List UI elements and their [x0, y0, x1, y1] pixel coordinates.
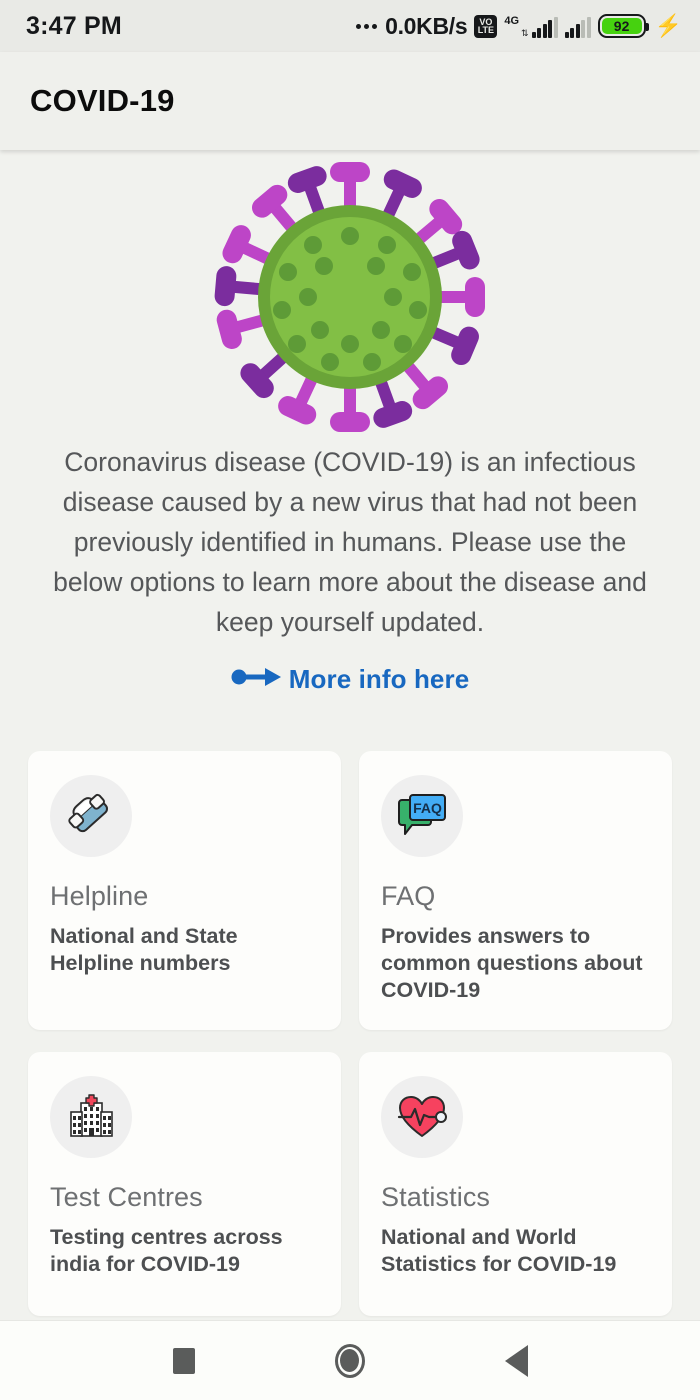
description-text: Coronavirus disease (COVID-19) is an inf… — [40, 442, 660, 642]
telephone-receiver-icon — [50, 775, 132, 857]
card-helpline[interactable]: Helpline National and State Helpline num… — [28, 751, 341, 1030]
battery-percent-label: 92 — [602, 18, 642, 34]
faq-speech-bubble-icon: FAQ — [381, 775, 463, 857]
charging-bolt-icon: ⚡ — [655, 15, 682, 37]
home-circle-icon — [335, 1344, 365, 1378]
more-info-label: More info here — [289, 664, 470, 695]
sim1-signal-icon: 4G ⇅ — [504, 15, 557, 38]
home-button[interactable] — [335, 1344, 365, 1378]
coronavirus-illustration — [200, 162, 500, 432]
page-title: COVID-19 — [30, 83, 175, 119]
status-bar: 3:47 PM 0.0KB/s VO LTE 4G ⇅ — [0, 0, 700, 52]
main-content: Coronavirus disease (COVID-19) is an inf… — [0, 150, 700, 1320]
card-title: Statistics — [381, 1182, 650, 1213]
sim2-bars — [565, 18, 591, 38]
card-test-centres[interactable]: Test Centres Testing centres across indi… — [28, 1052, 341, 1316]
network-type-label: 4G — [504, 15, 519, 27]
arrow-right-icon — [231, 666, 283, 693]
card-subtitle: Testing centres across india for COVID-1… — [50, 1224, 319, 1278]
back-triangle-icon — [505, 1345, 528, 1377]
network-speed-label: 0.0KB/s — [385, 13, 467, 40]
more-info-link[interactable]: More info here — [231, 664, 470, 695]
card-title: Test Centres — [50, 1182, 319, 1213]
overflow-dots-icon — [356, 24, 377, 29]
status-icons: 0.0KB/s VO LTE 4G ⇅ 92 ⚡ — [356, 13, 682, 40]
phone-screen: 3:47 PM 0.0KB/s VO LTE 4G ⇅ — [0, 0, 700, 1400]
sim2-signal-icon — [565, 15, 591, 38]
status-time: 3:47 PM — [26, 12, 122, 41]
heart-pulse-icon — [381, 1076, 463, 1158]
battery-icon: 92 — [598, 14, 646, 38]
card-subtitle: National and State Helpline numbers — [50, 923, 319, 977]
svg-text:FAQ: FAQ — [413, 800, 442, 816]
volte-icon: VO LTE — [474, 15, 497, 38]
data-arrows-icon: ⇅ — [521, 29, 529, 38]
card-faq[interactable]: FAQ FAQ Provides answers to common quest… — [359, 751, 672, 1030]
sim1-bars — [532, 18, 558, 38]
feature-card-grid: Helpline National and State Helpline num… — [28, 751, 672, 1316]
back-button[interactable] — [505, 1345, 528, 1377]
app-bar: COVID-19 — [0, 52, 700, 150]
volte-bottom-label: LTE — [478, 26, 494, 34]
card-title: FAQ — [381, 881, 650, 912]
card-title: Helpline — [50, 881, 319, 912]
hospital-building-icon — [50, 1076, 132, 1158]
card-subtitle: Provides answers to common questions abo… — [381, 923, 650, 1004]
recents-button[interactable] — [173, 1348, 195, 1374]
card-statistics[interactable]: Statistics National and World Statistics… — [359, 1052, 672, 1316]
android-navigation-bar — [0, 1320, 700, 1400]
card-subtitle: National and World Statistics for COVID-… — [381, 1224, 650, 1278]
recents-square-icon — [173, 1348, 195, 1374]
